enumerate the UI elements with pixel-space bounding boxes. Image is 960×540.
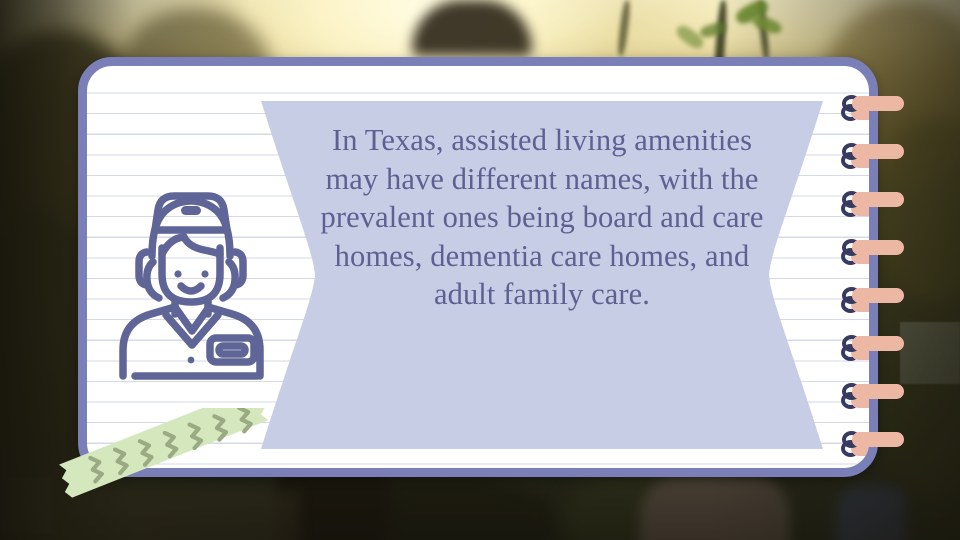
spiral-ring-overlay [842,239,904,256]
spiral-ring-overlay [842,191,904,208]
spiral-ring-overlay [842,143,904,160]
ring-bar [852,240,904,255]
ring-bar [852,192,904,207]
spiral-ring-overlay [842,287,904,304]
spiral-ring-overlay [842,431,904,448]
spiral-ring-overlay [842,335,904,352]
ring-bar [852,336,904,351]
slide-canvas: In Texas, assisted living amenities may … [0,0,960,540]
ring-bar [852,288,904,303]
ring-bar [852,384,904,399]
quote-text: In Texas, assisted living amenities may … [315,121,769,314]
quote-shape: In Texas, assisted living amenities may … [261,101,823,449]
notebook-card: In Texas, assisted living amenities may … [78,57,878,477]
ring-bar [852,144,904,159]
nurse-caregiver-icon [111,176,271,381]
spiral-ring-overlay [842,95,904,112]
ring-bar [852,96,904,111]
ring-bar [852,432,904,447]
spiral-ring-overlay [842,383,904,400]
